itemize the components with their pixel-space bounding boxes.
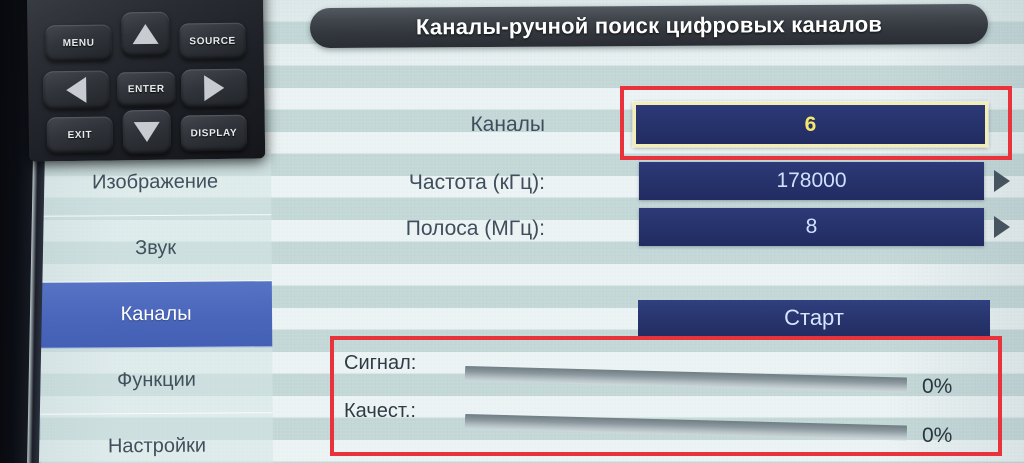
- remote-up-button[interactable]: [121, 12, 170, 57]
- signal-meter-label: Сигнал:: [344, 352, 416, 375]
- remote-exit-label: EXIT: [67, 129, 92, 140]
- sidebar-item-functions-label: Функции: [117, 369, 196, 393]
- sidebar-item-settings-label: Настройки: [108, 435, 206, 459]
- remote-enter-label: ENTER: [128, 83, 165, 95]
- frequency-value-field[interactable]: 178000: [639, 162, 984, 200]
- signal-meter-percent-text: 0%: [922, 375, 952, 398]
- quality-meter-percent: 0%: [922, 424, 952, 448]
- sidebar-item-channels[interactable]: Каналы: [40, 281, 272, 349]
- signal-meter-label-text: Сигнал:: [344, 352, 416, 374]
- row-label-frequency-text: Частота (кГц):: [409, 171, 545, 195]
- frequency-next-arrow-icon[interactable]: [994, 170, 1010, 192]
- remote-down-button[interactable]: [123, 110, 172, 155]
- remote-menu-button[interactable]: MENU: [45, 24, 111, 61]
- quality-meter-label-text: Качест.:: [344, 400, 416, 422]
- row-label-frequency: Частота (кГц):: [300, 162, 545, 204]
- remote-source-button[interactable]: SOURCE: [179, 23, 245, 60]
- quality-meter-label: Качест.:: [344, 400, 416, 423]
- bandwidth-next-arrow-icon[interactable]: [994, 216, 1010, 238]
- row-label-channel-text: Каналы: [470, 113, 545, 137]
- remote-enter-button[interactable]: ENTER: [117, 72, 175, 107]
- bandwidth-value-field[interactable]: 8: [639, 208, 984, 246]
- remote-source-label: SOURCE: [189, 35, 236, 47]
- channel-value-field[interactable]: 6: [633, 102, 988, 147]
- sidebar-item-functions[interactable]: Функции: [40, 347, 272, 415]
- remote-control-overlay: MENU SOURCE ENTER EXIT DISPLAY: [27, 0, 265, 162]
- signal-meter-percent: 0%: [922, 375, 952, 399]
- channel-value-text: 6: [805, 113, 817, 137]
- remote-exit-button[interactable]: EXIT: [47, 116, 113, 153]
- remote-display-button[interactable]: DISPLAY: [181, 115, 247, 152]
- sidebar-item-settings[interactable]: Настройки: [41, 413, 273, 463]
- settings-sidebar: Изображение Звук Каналы Функции Настройк…: [39, 149, 273, 463]
- triangle-right-icon: [204, 75, 224, 101]
- frequency-value-text: 178000: [776, 169, 846, 193]
- remote-right-button[interactable]: [181, 69, 248, 108]
- sidebar-item-channels-label: Каналы: [120, 303, 191, 326]
- remote-menu-label: MENU: [63, 37, 95, 48]
- tv-osd-screen: Каналы 6 Частота (кГц): 178000 Полоса (М…: [0, 0, 1024, 463]
- row-label-channel: Каналы: [300, 104, 545, 146]
- remote-left-button[interactable]: [43, 71, 110, 110]
- quality-meter-percent-text: 0%: [922, 424, 952, 447]
- signal-meter-track: [465, 366, 907, 393]
- sidebar-item-picture-label: Изображение: [92, 171, 218, 195]
- sidebar-item-sound-label: Звук: [135, 237, 176, 260]
- remote-display-label: DISPLAY: [190, 127, 237, 139]
- bandwidth-value-text: 8: [806, 215, 818, 239]
- start-scan-button[interactable]: Старт: [638, 300, 990, 336]
- sidebar-item-sound[interactable]: Звук: [39, 215, 271, 283]
- row-label-bandwidth-text: Полоса (МГц):: [406, 217, 545, 241]
- triangle-left-icon: [66, 77, 86, 103]
- quality-meter-track: [465, 414, 907, 441]
- start-scan-label: Старт: [784, 305, 844, 331]
- triangle-down-icon: [134, 122, 160, 142]
- row-label-bandwidth: Полоса (МГц):: [300, 208, 545, 250]
- triangle-up-icon: [132, 24, 158, 44]
